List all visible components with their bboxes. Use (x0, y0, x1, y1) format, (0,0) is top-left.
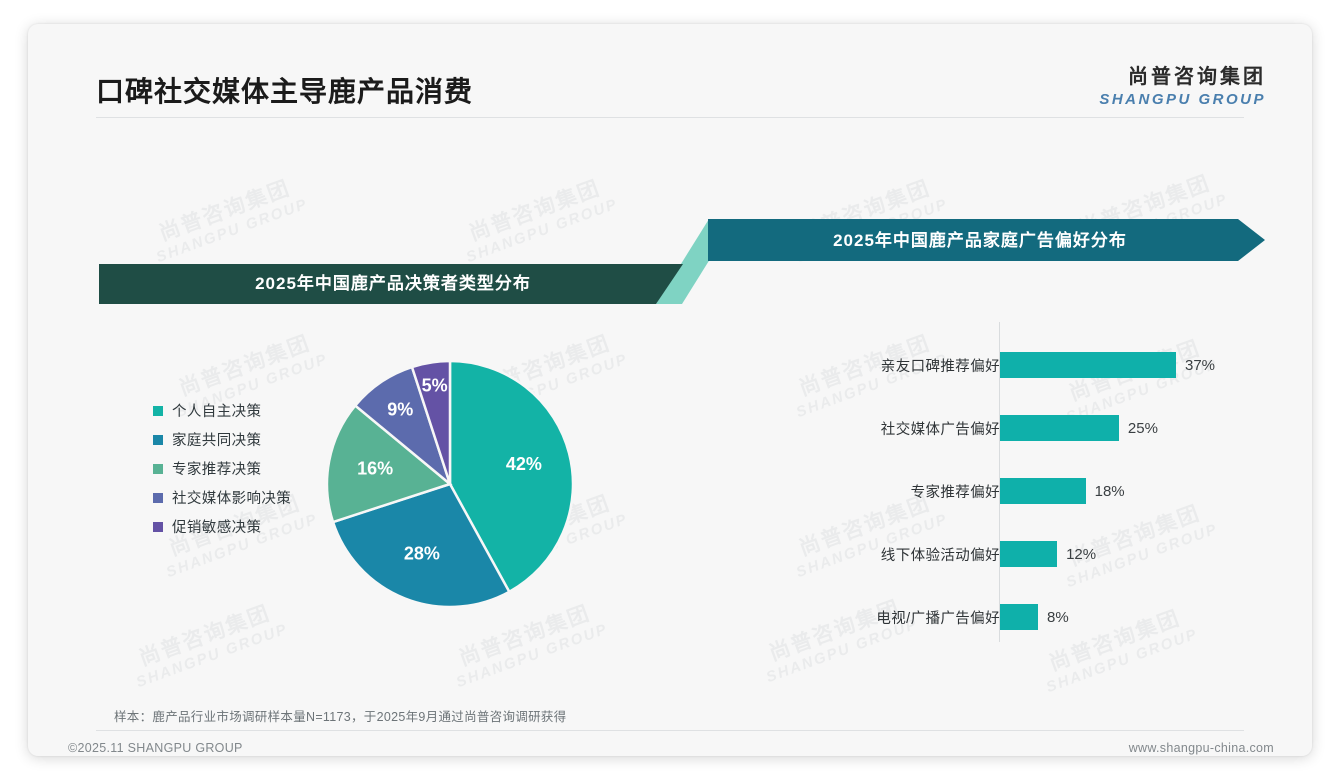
pie-chart-svg: 42%28%16%9%5% (320, 354, 580, 614)
legend-swatch-icon (153, 493, 163, 503)
bar-row[interactable]: 社交媒体广告偏好25% (768, 411, 1268, 445)
legend-swatch-icon (153, 435, 163, 445)
footnote-divider (96, 730, 1244, 731)
slide-header: 口碑社交媒体主导鹿产品消费 尚普咨询集团 SHANGPU GROUP (28, 24, 1312, 114)
bar-value-label: 37% (1185, 357, 1215, 374)
pie-slice-label: 28% (404, 544, 440, 564)
legend-label: 社交媒体影响决策 (172, 487, 291, 508)
header-divider (96, 117, 1244, 118)
legend-swatch-icon (153, 522, 163, 532)
banner-right-title: 2025年中国鹿产品家庭广告偏好分布 (833, 230, 1127, 250)
legend-item[interactable]: 个人自主决策 (153, 396, 291, 425)
bar-row[interactable]: 电视/广播广告偏好8% (768, 600, 1268, 634)
pie-slice-label: 9% (387, 400, 413, 420)
bar-category-label: 专家推荐偏好 (911, 481, 1000, 502)
bar-fill[interactable] (1000, 415, 1119, 441)
legend-label: 个人自主决策 (172, 400, 261, 421)
bar-row[interactable]: 线下体验活动偏好12% (768, 537, 1268, 571)
bar-category-label: 电视/广播广告偏好 (876, 607, 1000, 628)
banner-left-title: 2025年中国鹿产品决策者类型分布 (255, 273, 531, 293)
bar-track: 8% (1000, 604, 1069, 630)
bar-track: 18% (1000, 478, 1125, 504)
footer-copyright: ©2025.11 SHANGPU GROUP (68, 741, 243, 755)
footer-website: www.shangpu-china.com (1129, 741, 1274, 755)
bar-value-label: 8% (1047, 609, 1069, 626)
legend-item[interactable]: 促销敏感决策 (153, 512, 291, 541)
legend-item[interactable]: 家庭共同决策 (153, 425, 291, 454)
brand-logo: 尚普咨询集团 SHANGPU GROUP (1099, 60, 1266, 108)
slide-card: 尚普咨询集团SHANGPU GROUP尚普咨询集团SHANGPU GROUP尚普… (28, 24, 1312, 756)
legend-label: 专家推荐决策 (172, 458, 261, 479)
legend-label: 家庭共同决策 (172, 429, 261, 450)
bar-fill[interactable] (1000, 541, 1057, 567)
page-title: 口碑社交媒体主导鹿产品消费 (96, 70, 473, 110)
bar-category-label: 亲友口碑推荐偏好 (881, 355, 1000, 376)
bar-category-label: 线下体验活动偏好 (881, 544, 1000, 565)
bar-value-label: 18% (1095, 483, 1125, 500)
pie-slice-label: 5% (422, 376, 448, 396)
legend-item[interactable]: 专家推荐决策 (153, 454, 291, 483)
pie-slice-label: 42% (506, 454, 542, 474)
bar-value-label: 25% (1128, 420, 1158, 437)
bar-fill[interactable] (1000, 478, 1086, 504)
pie-slice-label: 16% (357, 458, 393, 478)
bar-chart-panel: 亲友口碑推荐偏好37%社交媒体广告偏好25%专家推荐偏好18%线下体验活动偏好1… (768, 304, 1268, 664)
pie-chart-panel: 个人自主决策家庭共同决策专家推荐决策社交媒体影响决策促销敏感决策 42%28%1… (98, 324, 698, 664)
bar-row[interactable]: 专家推荐偏好18% (768, 474, 1268, 508)
bar-track: 25% (1000, 415, 1158, 441)
legend-swatch-icon (153, 464, 163, 474)
bar-track: 37% (1000, 352, 1215, 378)
brand-name-en: SHANGPU GROUP (1099, 91, 1266, 108)
legend-swatch-icon (153, 406, 163, 416)
legend-label: 促销敏感决策 (172, 516, 261, 537)
bar-track: 12% (1000, 541, 1096, 567)
bar-category-label: 社交媒体广告偏好 (881, 418, 1000, 439)
sample-footnote: 样本：鹿产品行业市场调研样本量N=1173，于2025年9月通过尚普咨询调研获得 (114, 706, 566, 725)
bar-fill[interactable] (1000, 604, 1038, 630)
bar-row[interactable]: 亲友口碑推荐偏好37% (768, 348, 1268, 382)
pie-chart: 42%28%16%9%5% (320, 354, 580, 619)
brand-name-cn: 尚普咨询集团 (1099, 60, 1266, 89)
legend-item[interactable]: 社交媒体影响决策 (153, 483, 291, 512)
bar-value-label: 12% (1066, 546, 1096, 563)
pie-legend: 个人自主决策家庭共同决策专家推荐决策社交媒体影响决策促销敏感决策 (153, 396, 291, 541)
bar-fill[interactable] (1000, 352, 1176, 378)
